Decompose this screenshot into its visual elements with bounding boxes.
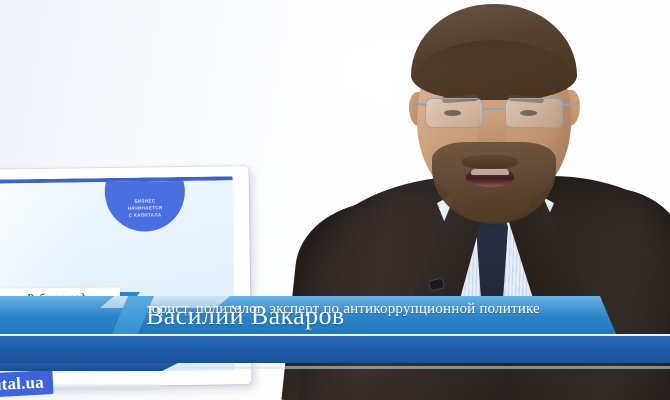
- subject-title: юрист, политолог, эксперт по антикоррупц…: [0, 296, 670, 323]
- moustache: [462, 155, 518, 169]
- glasses-bridge: [483, 108, 505, 110]
- video-frame: БИЗНЕС НАЧИНАЕТСЯ С КАПИТАЛА ИТАЛ: [0, 0, 670, 400]
- title-bar: [0, 336, 670, 363]
- site-watermark: pital.ua: [0, 370, 53, 398]
- teeth: [471, 169, 509, 175]
- glasses-lens-left: [425, 98, 483, 128]
- lower-third-banner: Василий Вакаров юрист, политолог, экспер…: [0, 296, 670, 366]
- title-bar-tab: [0, 363, 178, 371]
- glasses-lens-right: [505, 98, 563, 128]
